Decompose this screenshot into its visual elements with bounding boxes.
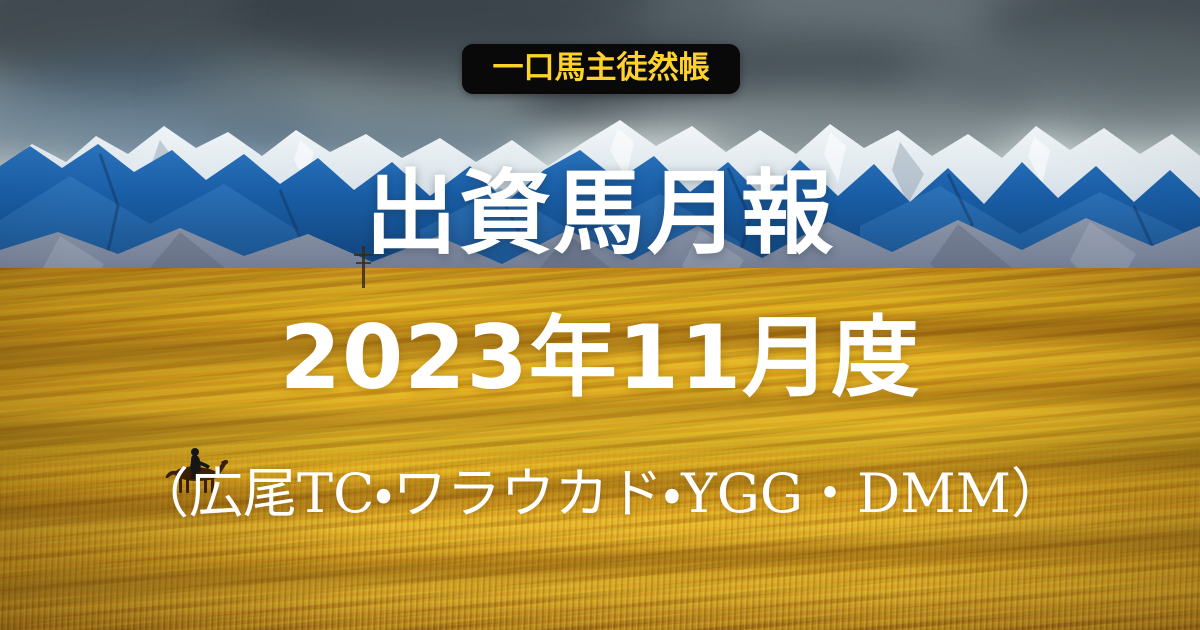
club-list-line: （広尾TC・ワラウカド・YGG・DMM） — [0, 464, 1200, 523]
page-subtitle-period: 2023年11月度 — [0, 312, 1200, 404]
site-name-label: 一口馬主徒然帳 — [493, 53, 710, 84]
site-name-badge: 一口馬主徒然帳 — [462, 44, 740, 94]
page-title: 出資馬月報 — [0, 166, 1200, 263]
banner-canvas: 一口馬主徒然帳 出資馬月報 2023年11月度 （広尾TC・ワラウカド・YGG・… — [0, 0, 1200, 630]
